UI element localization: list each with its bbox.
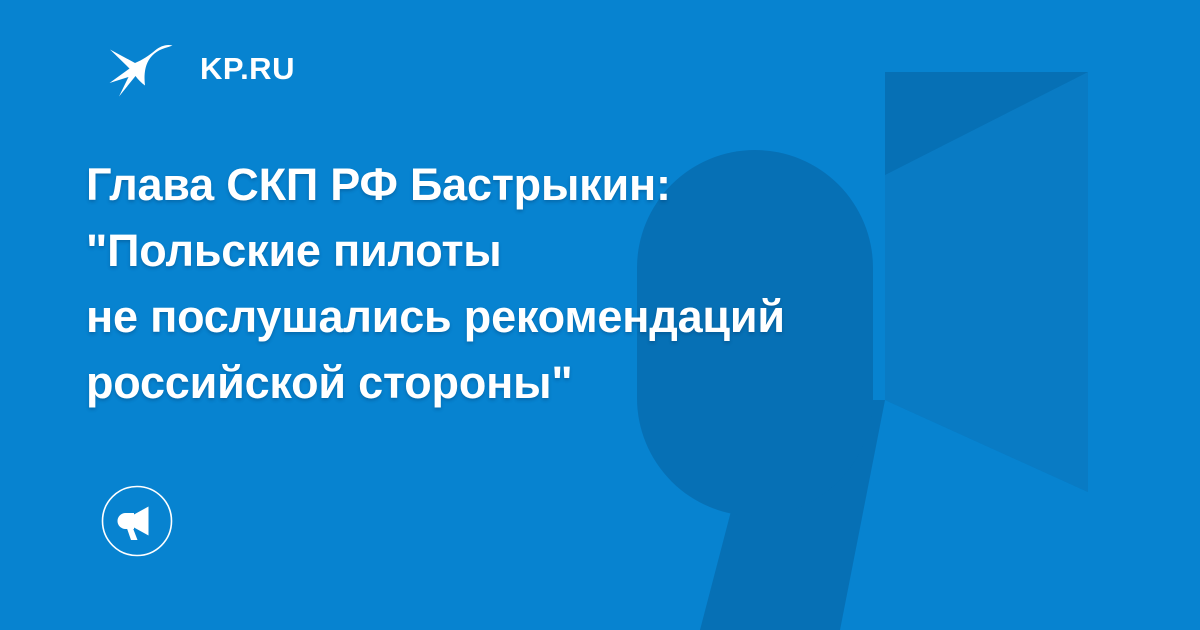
megaphone-icon [101,485,173,557]
headline-line-4: российской стороны" [86,350,1096,416]
swallow-bird-icon [108,39,178,97]
megaphone-badge[interactable] [101,485,173,557]
headline-line-1: Глава СКП РФ Бастрыкин: [86,152,1096,218]
headline-line-3: не послушались рекомендаций [86,284,1096,350]
site-logo[interactable]: KP.RU [108,38,295,98]
logo-wordmark: KP.RU [200,53,295,84]
headline: Глава СКП РФ Бастрыкин: "Польские пилоты… [86,152,1096,416]
share-card: KP.RU Глава СКП РФ Бастрыкин: "Польские … [0,0,1200,630]
headline-line-2: "Польские пилоты [86,218,1096,284]
